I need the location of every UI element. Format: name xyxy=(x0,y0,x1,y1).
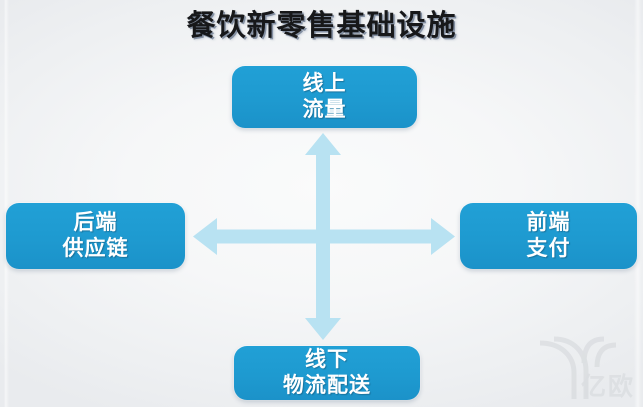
node-left-line-2: 供应链 xyxy=(63,236,129,262)
watermark-text: 亿欧 xyxy=(581,374,635,399)
four-way-arrow-icon xyxy=(193,133,455,340)
node-top-line-2: 流量 xyxy=(303,97,347,123)
node-backend-supply-chain[interactable]: 后端 供应链 xyxy=(6,203,185,269)
eo-y-logo-icon xyxy=(534,329,639,405)
node-right-line-1: 前端 xyxy=(527,210,571,236)
node-frontend-payment[interactable]: 前端 支付 xyxy=(460,203,637,269)
watermark: 亿欧 xyxy=(534,329,639,405)
page-title: 餐饮新零售基础设施 xyxy=(0,2,643,44)
node-bottom-line-2: 物流配送 xyxy=(283,373,371,399)
diagram-canvas: 餐饮新零售基础设施 线上 流量 后端 供应链 前端 支付 线下 物流配送 xyxy=(0,0,643,407)
node-right-line-2: 支付 xyxy=(527,236,571,262)
node-offline-logistics[interactable]: 线下 物流配送 xyxy=(234,346,420,400)
node-bottom-line-1: 线下 xyxy=(305,347,349,373)
node-top-line-1: 线上 xyxy=(303,71,347,97)
node-online-traffic[interactable]: 线上 流量 xyxy=(232,66,417,128)
node-left-line-1: 后端 xyxy=(74,210,118,236)
